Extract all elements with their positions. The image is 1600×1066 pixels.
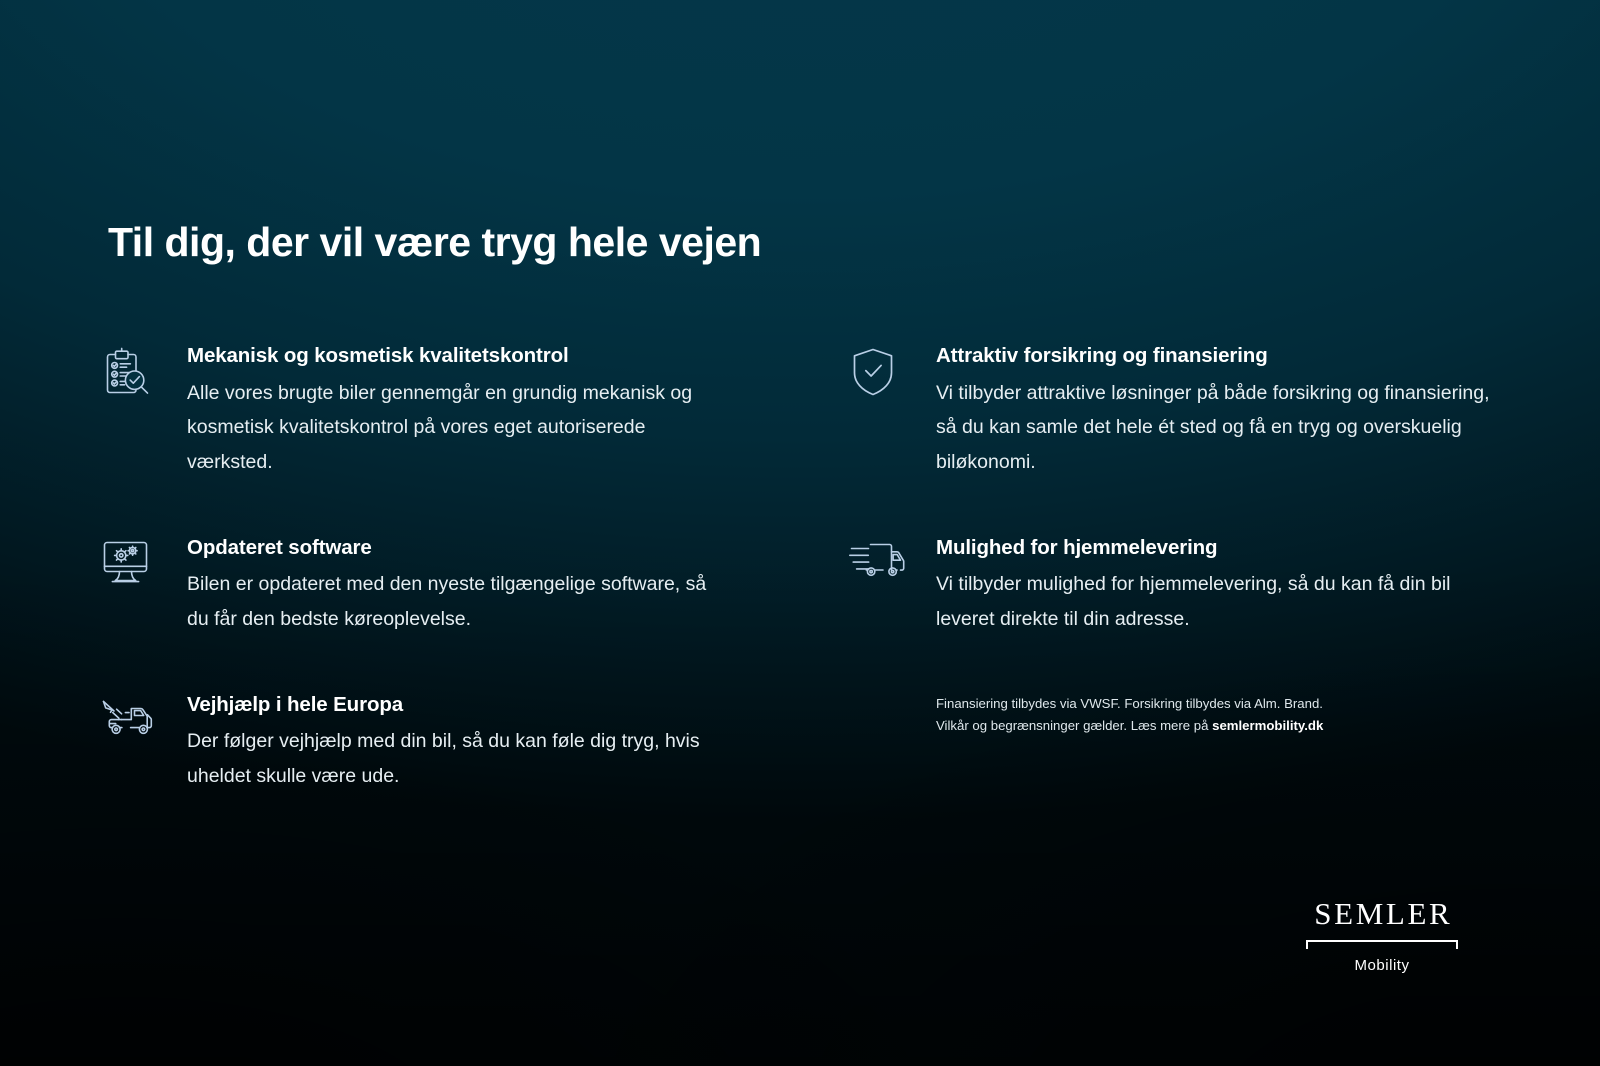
disclaimer-line-2-text: Vilkår og begrænsninger gælder. Læs mere…	[936, 718, 1212, 733]
legal-disclaimer: Finansiering tilbydes via VWSF. Forsikri…	[936, 693, 1456, 737]
logo-wordmark: SEMLER	[1303, 898, 1461, 929]
features-grid: Mekanisk og kosmetisk kvalitetskontrol A…	[100, 344, 1500, 794]
monitor-gears-icon	[100, 538, 162, 592]
feature-description: Alle vores brugte biler gennemgår en gru…	[187, 376, 732, 480]
feature-body: Mekanisk og kosmetisk kvalitetskontrol A…	[162, 344, 751, 480]
logo-subtitle: Mobility	[1303, 958, 1461, 973]
shield-check-icon	[849, 346, 911, 400]
semler-mobility-logo: SEMLER Mobility	[1303, 898, 1461, 973]
feature-updated-software: Opdateret software Bilen er opdateret me…	[100, 536, 751, 637]
feature-body: Vejhjælp i hele Europa Der følger vejhjæ…	[162, 693, 751, 794]
feature-body: Opdateret software Bilen er opdateret me…	[162, 536, 751, 637]
tow-truck-icon	[100, 695, 162, 749]
feature-title: Mekanisk og kosmetisk kvalitetskontrol	[187, 344, 751, 369]
feature-insurance-financing: Attraktiv forsikring og finansiering Vi …	[849, 344, 1500, 480]
feature-title: Opdateret software	[187, 536, 751, 561]
feature-title: Mulighed for hjemmelevering	[936, 536, 1500, 561]
feature-body: Mulighed for hjemmelevering Vi tilbyder …	[911, 536, 1500, 637]
promo-banner: Til dig, der vil være tryg hele vejen	[0, 0, 1600, 1066]
page-title: Til dig, der vil være tryg hele vejen	[108, 220, 761, 266]
disclaimer-line-1: Finansiering tilbydes via VWSF. Forsikri…	[936, 693, 1456, 715]
disclaimer-line-2: Vilkår og begrænsninger gælder. Læs mere…	[936, 715, 1456, 737]
feature-description: Vi tilbyder attraktive løsninger på både…	[936, 376, 1500, 480]
feature-title: Vejhjælp i hele Europa	[187, 693, 751, 718]
logo-divider	[1306, 940, 1458, 949]
feature-body: Attraktiv forsikring og finansiering Vi …	[911, 344, 1500, 480]
clipboard-check-magnifier-icon	[100, 346, 162, 400]
feature-description: Vi tilbyder mulighed for hjemmelevering,…	[936, 567, 1500, 636]
feature-description: Der følger vejhjælp med din bil, så du k…	[187, 724, 732, 793]
feature-description: Bilen er opdateret med den nyeste tilgæn…	[187, 567, 732, 636]
disclaimer-website-link[interactable]: semlermobility.dk	[1212, 718, 1323, 733]
features-column-left: Mekanisk og kosmetisk kvalitetskontrol A…	[100, 344, 751, 794]
logo-divider-cap-left	[1306, 940, 1308, 949]
feature-quality-control: Mekanisk og kosmetisk kvalitetskontrol A…	[100, 344, 751, 480]
delivery-truck-icon	[849, 538, 911, 592]
feature-title: Attraktiv forsikring og finansiering	[936, 344, 1500, 369]
logo-divider-cap-right	[1456, 940, 1458, 949]
features-column-right: Attraktiv forsikring og finansiering Vi …	[849, 344, 1500, 794]
feature-roadside-assistance: Vejhjælp i hele Europa Der følger vejhjæ…	[100, 693, 751, 794]
feature-home-delivery: Mulighed for hjemmelevering Vi tilbyder …	[849, 536, 1500, 637]
